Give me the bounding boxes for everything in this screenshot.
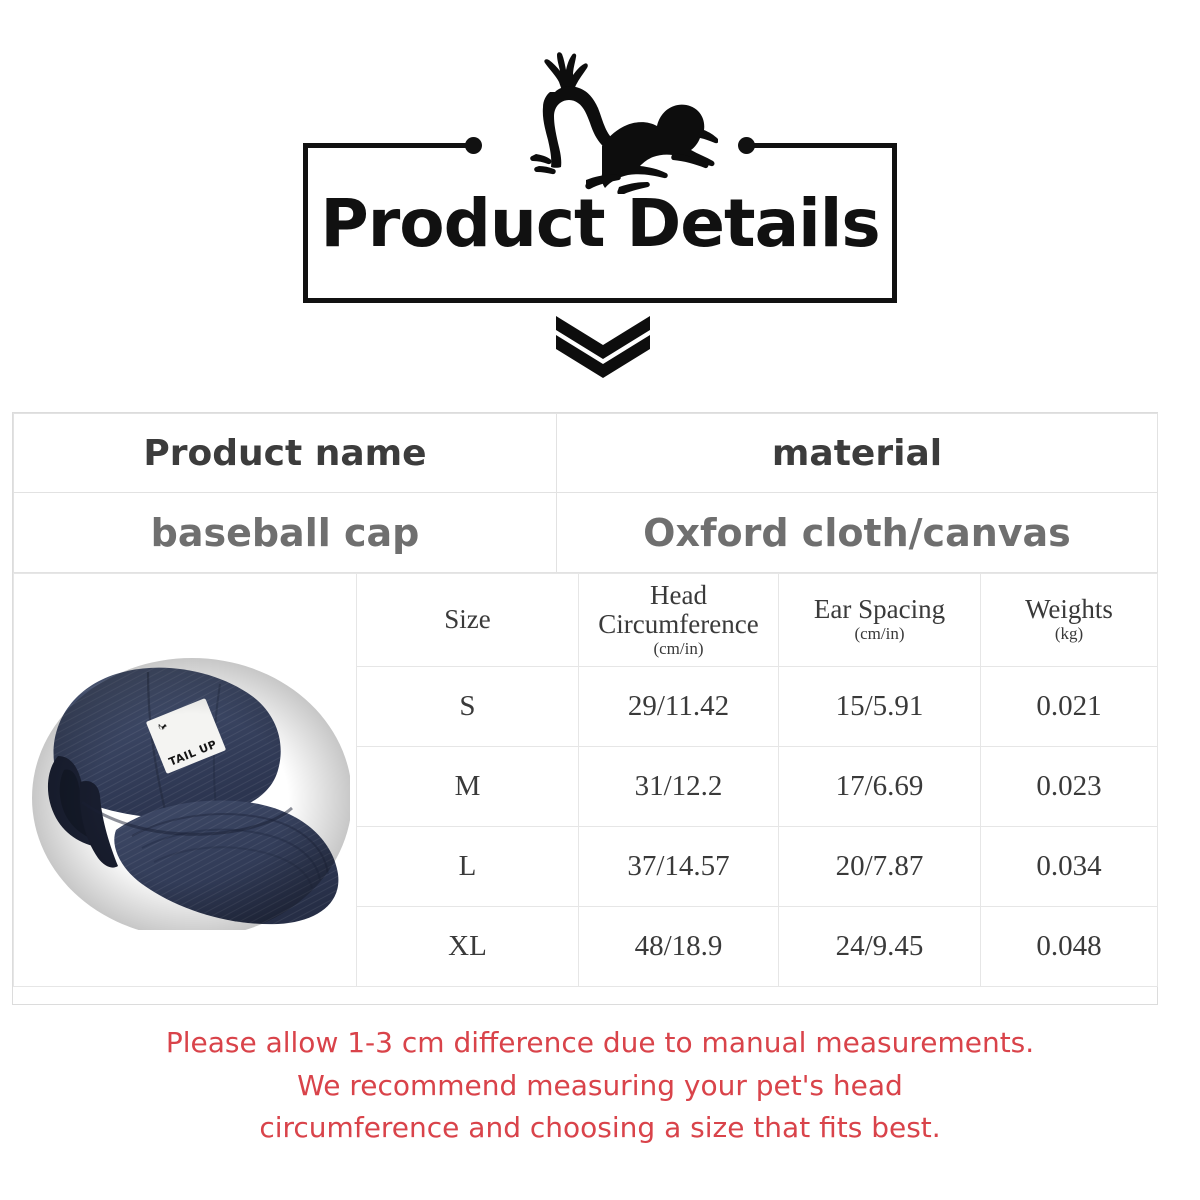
cell-weight: 0.034 bbox=[981, 827, 1158, 907]
header-banner: Product Details bbox=[0, 0, 1200, 400]
ear-spacing-col-header: Ear Spacing (cm/in) bbox=[779, 574, 981, 667]
product-details-table: Product name material baseball cap Oxfor… bbox=[12, 412, 1158, 1005]
size-chart-table: TAIL UP Size Head Circumference (cm/in) bbox=[13, 573, 1158, 987]
cell-weight: 0.048 bbox=[981, 907, 1158, 987]
product-info-table: Product name material baseball cap Oxfor… bbox=[13, 413, 1158, 573]
title-frame: Product Details bbox=[303, 143, 897, 303]
product-image-cell: TAIL UP bbox=[14, 574, 357, 987]
cell-weight: 0.021 bbox=[981, 667, 1158, 747]
cell-weight: 0.023 bbox=[981, 747, 1158, 827]
cell-head: 48/18.9 bbox=[579, 907, 779, 987]
cell-size: S bbox=[357, 667, 579, 747]
cell-ear: 15/5.91 bbox=[779, 667, 981, 747]
table-row: TAIL UP Size Head Circumference (cm/in) bbox=[14, 574, 1158, 667]
disclaimer-line-2: We recommend measuring your pet's head bbox=[0, 1065, 1200, 1108]
cell-head: 37/14.57 bbox=[579, 827, 779, 907]
cell-size: M bbox=[357, 747, 579, 827]
page-title: Product Details bbox=[303, 143, 897, 303]
head-circumference-col-header: Head Circumference (cm/in) bbox=[579, 574, 779, 667]
value-product-name: baseball cap bbox=[14, 493, 557, 573]
double-chevron-down-icon bbox=[556, 316, 650, 378]
product-photo: TAIL UP bbox=[20, 630, 350, 930]
cell-head: 29/11.42 bbox=[579, 667, 779, 747]
table-row: baseball cap Oxford cloth/canvas bbox=[14, 493, 1158, 573]
size-col-header: Size bbox=[357, 574, 579, 667]
cell-size: L bbox=[357, 827, 579, 907]
table-row: Product name material bbox=[14, 414, 1158, 493]
measurement-disclaimer: Please allow 1-3 cm difference due to ma… bbox=[0, 1022, 1200, 1150]
weights-col-header: Weights (kg) bbox=[981, 574, 1158, 667]
cell-size: XL bbox=[357, 907, 579, 987]
cell-head: 31/12.2 bbox=[579, 747, 779, 827]
pet-baseball-cap-illustration: TAIL UP bbox=[20, 630, 350, 930]
header-product-name: Product name bbox=[14, 414, 557, 493]
cell-ear: 24/9.45 bbox=[779, 907, 981, 987]
cell-ear: 20/7.87 bbox=[779, 827, 981, 907]
disclaimer-line-1: Please allow 1-3 cm difference due to ma… bbox=[0, 1022, 1200, 1065]
value-material: Oxford cloth/canvas bbox=[557, 493, 1158, 573]
cell-ear: 17/6.69 bbox=[779, 747, 981, 827]
header-material: material bbox=[557, 414, 1158, 493]
disclaimer-line-3: circumference and choosing a size that f… bbox=[0, 1107, 1200, 1150]
